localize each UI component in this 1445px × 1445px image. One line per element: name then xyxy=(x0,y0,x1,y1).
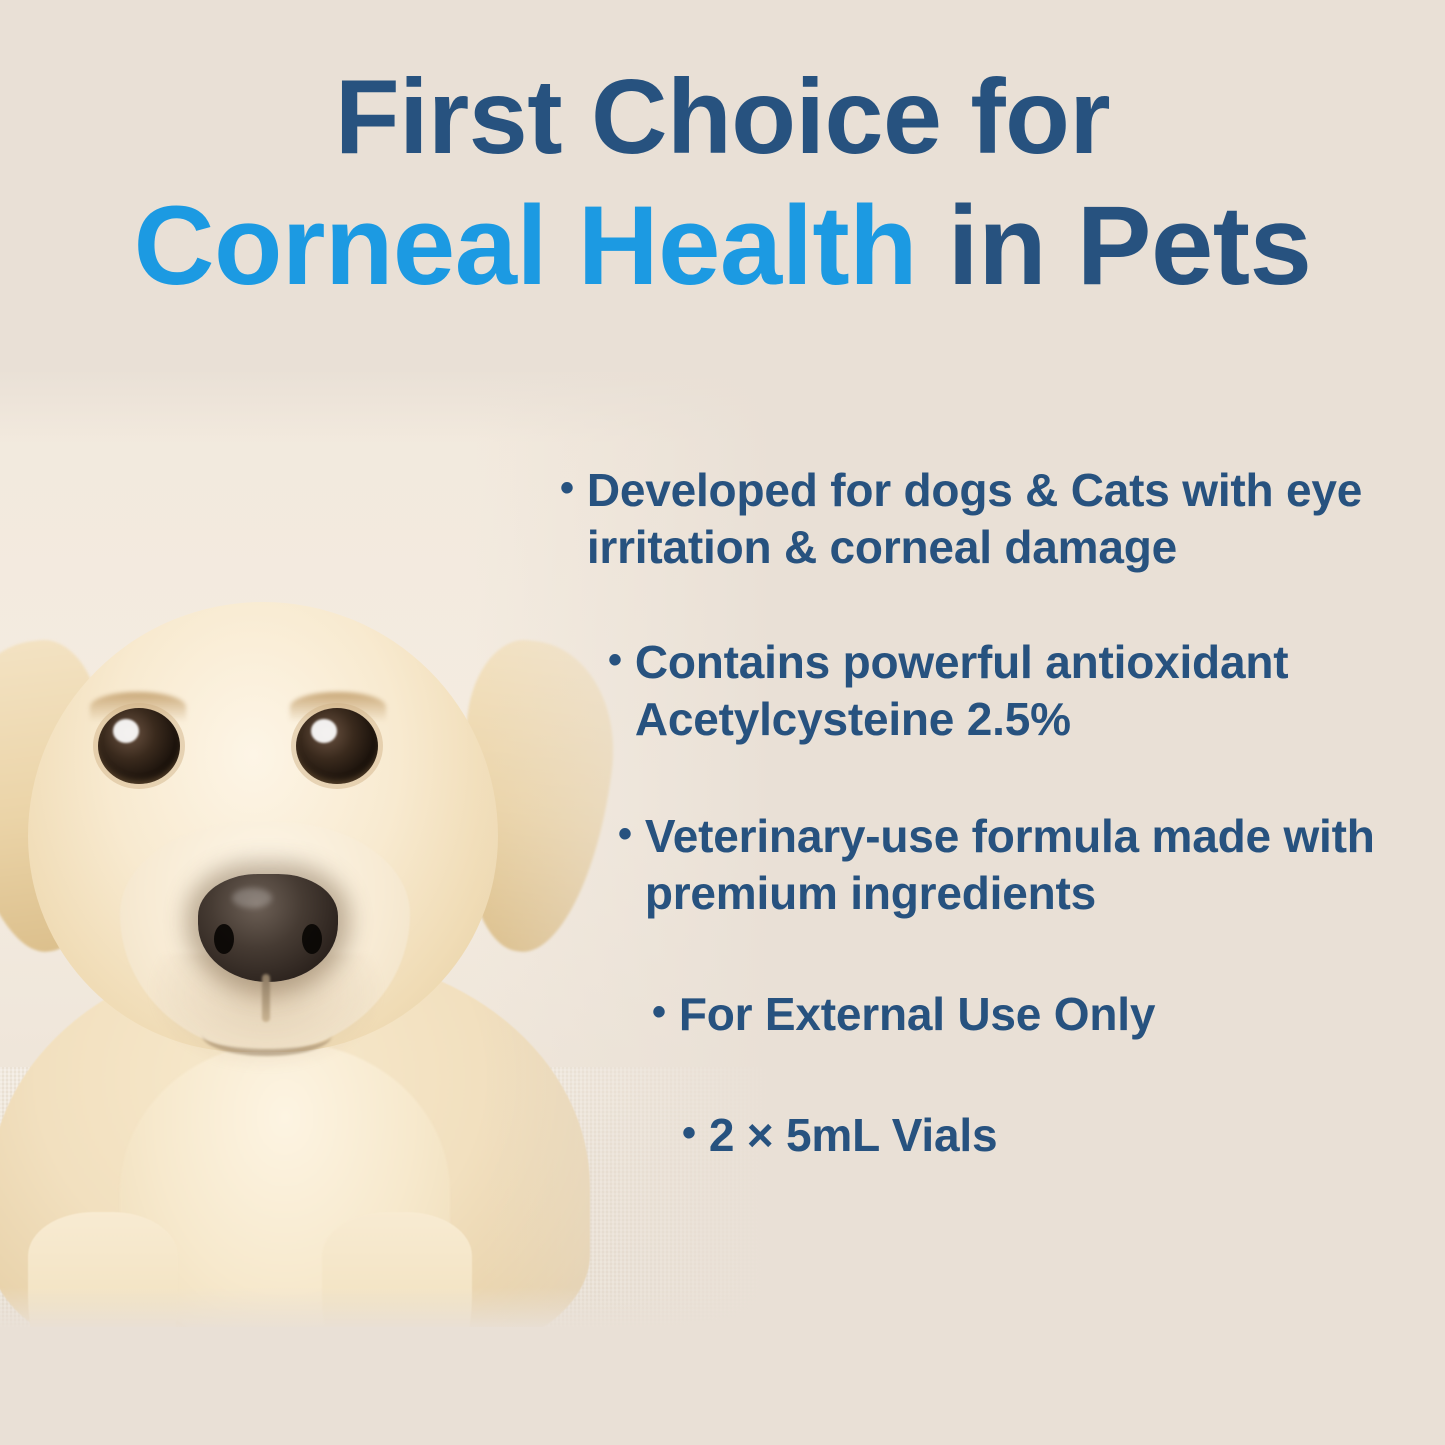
list-item-label: For External Use Only xyxy=(679,986,1430,1043)
headline-line-2-rest: in Pets xyxy=(917,183,1311,308)
bullet-dot-icon: • xyxy=(560,462,574,516)
list-item-label: Developed for dogs & Cats with eye irrit… xyxy=(587,462,1430,576)
bullet-dot-icon: • xyxy=(618,808,632,862)
list-item: • For External Use Only xyxy=(652,986,1430,1043)
list-item-label: Veterinary-use formula made with premium… xyxy=(645,808,1430,922)
bullet-dot-icon: • xyxy=(608,634,622,688)
list-item: • Veterinary-use formula made with premi… xyxy=(618,808,1430,922)
puppy-nose-highlight xyxy=(232,888,272,908)
puppy-mouth xyxy=(202,1014,332,1056)
list-item-label: 2 × 5mL Vials xyxy=(709,1107,1430,1164)
headline-highlight: Corneal Health xyxy=(134,183,917,308)
list-item-label: Contains powerful antioxidant Acetylcyst… xyxy=(635,634,1430,748)
puppy-eye-left xyxy=(98,708,180,784)
list-item: • Developed for dogs & Cats with eye irr… xyxy=(560,462,1430,576)
bullet-dot-icon: • xyxy=(682,1107,696,1161)
headline-line-1: First Choice for xyxy=(0,62,1445,173)
headline-line-2: Corneal Health in Pets xyxy=(0,187,1445,305)
feature-bullet-list: • Developed for dogs & Cats with eye irr… xyxy=(560,462,1430,1164)
page-title: First Choice for Corneal Health in Pets xyxy=(0,62,1445,305)
product-feature-graphic: First Choice for Corneal Health in Pets xyxy=(0,0,1445,1445)
list-item: • Contains powerful antioxidant Acetylcy… xyxy=(608,634,1430,748)
puppy-eye-right xyxy=(296,708,378,784)
list-item: • 2 × 5mL Vials xyxy=(682,1107,1430,1164)
bullet-dot-icon: • xyxy=(652,986,666,1040)
